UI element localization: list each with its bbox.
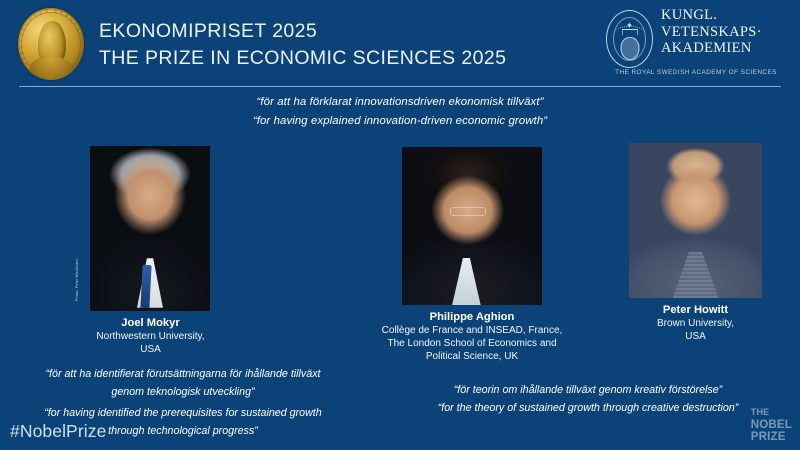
watermark-line-2: NOBEL [751, 419, 792, 432]
medal-shoulder [30, 56, 72, 80]
academy-wordmark: KUNGL. VETENSKAPS· AKADEMIEN [661, 7, 762, 57]
watermark-line-3: PRIZE [751, 431, 792, 444]
portrait-polo-shirt [673, 252, 719, 299]
page-title: EKONOMIPRISET 2025 THE PRIZE IN ECONOMIC… [99, 18, 506, 72]
main-citation: “för att ha förklarat innovationsdriven … [0, 93, 800, 131]
academy-subtitle: THE ROYAL SWEDISH ACADEMY OF SCIENCES [606, 69, 786, 76]
hashtag-label: #NobelPrize [10, 421, 106, 442]
citation-right-english: “for the theory of sustained growth thro… [378, 400, 798, 418]
portrait-joel-mokyr [90, 146, 210, 311]
watermark-line-1: THE [751, 406, 792, 419]
portrait-frame: Photo: Peter Micolmann [90, 146, 210, 311]
laureate-affiliation-line: Brown University, [608, 317, 783, 330]
photo-credit: Photo: Peter Micolmann [75, 258, 79, 301]
laureate-name: Peter Howitt [608, 303, 783, 317]
laureate-affiliation-line: Northwestern University, [63, 330, 238, 343]
citation-swedish: “för att ha förklarat innovationsdriven … [0, 93, 800, 112]
header-divider [19, 86, 781, 87]
nobel-prize-watermark: THE NOBEL PRIZE [751, 406, 792, 444]
nobel-medal-icon [18, 8, 84, 80]
academy-line-2: VETENSKAPS· [661, 24, 762, 41]
laureate-name: Philippe Aghion [352, 310, 592, 324]
laureate-affiliation-line: USA [608, 330, 783, 343]
laureate-name: Joel Mokyr [63, 316, 238, 330]
portrait-peter-howitt [629, 143, 762, 298]
portrait-frame [402, 147, 542, 305]
portrait-frame [629, 143, 762, 298]
portrait-philippe-aghion [402, 147, 542, 305]
laureate-affiliation-line: Political Science, UK [352, 350, 592, 363]
laureate-card-peter-howitt: Peter Howitt Brown University, USA [608, 143, 783, 343]
portrait-glasses-icon [450, 207, 486, 216]
header-banner: EKONOMIPRISET 2025 THE PRIZE IN ECONOMIC… [0, 0, 800, 88]
laureate-affiliation-line: USA [63, 343, 238, 356]
laureate-card-joel-mokyr: Photo: Peter Micolmann Joel Mokyr Northw… [63, 146, 238, 356]
academy-line-1: KUNGL. [661, 7, 762, 24]
laureate-affiliation-line: Collège de France and INSEAD, France, [352, 324, 592, 337]
seal-star-icon: ✦ [626, 22, 633, 30]
royal-academy-seal-icon: ✦ [606, 10, 653, 68]
title-swedish: EKONOMIPRISET 2025 [99, 18, 506, 45]
academy-logo: ✦ KUNGL. VETENSKAPS· AKADEMIEN THE ROYAL… [606, 7, 786, 81]
citation-right-swedish: “för teorin om ihållande tillväxt genom … [378, 382, 798, 400]
laureate-affiliation-line: The London School of Economics and [352, 337, 592, 350]
title-english: THE PRIZE IN ECONOMIC SCIENCES 2025 [99, 45, 506, 72]
portrait-collar [137, 258, 163, 308]
citation-left-swedish-1: “för att ha identifierat förutsättningar… [2, 366, 364, 384]
citation-left-english-1: “for having identified the prerequisites… [2, 405, 364, 423]
portrait-shirt [449, 258, 483, 305]
laureate-card-philippe-aghion: Philippe Aghion Collège de France and IN… [352, 147, 592, 364]
citation-right: “för teorin om ihållande tillväxt genom … [378, 382, 798, 417]
citation-left-swedish-2: genom teknologisk utveckling” [2, 384, 364, 402]
academy-line-3: AKADEMIEN [661, 40, 762, 57]
seal-face-icon [620, 37, 639, 60]
citation-english: “for having explained innovation-driven … [0, 112, 800, 131]
seal-crown-icon [622, 29, 638, 35]
